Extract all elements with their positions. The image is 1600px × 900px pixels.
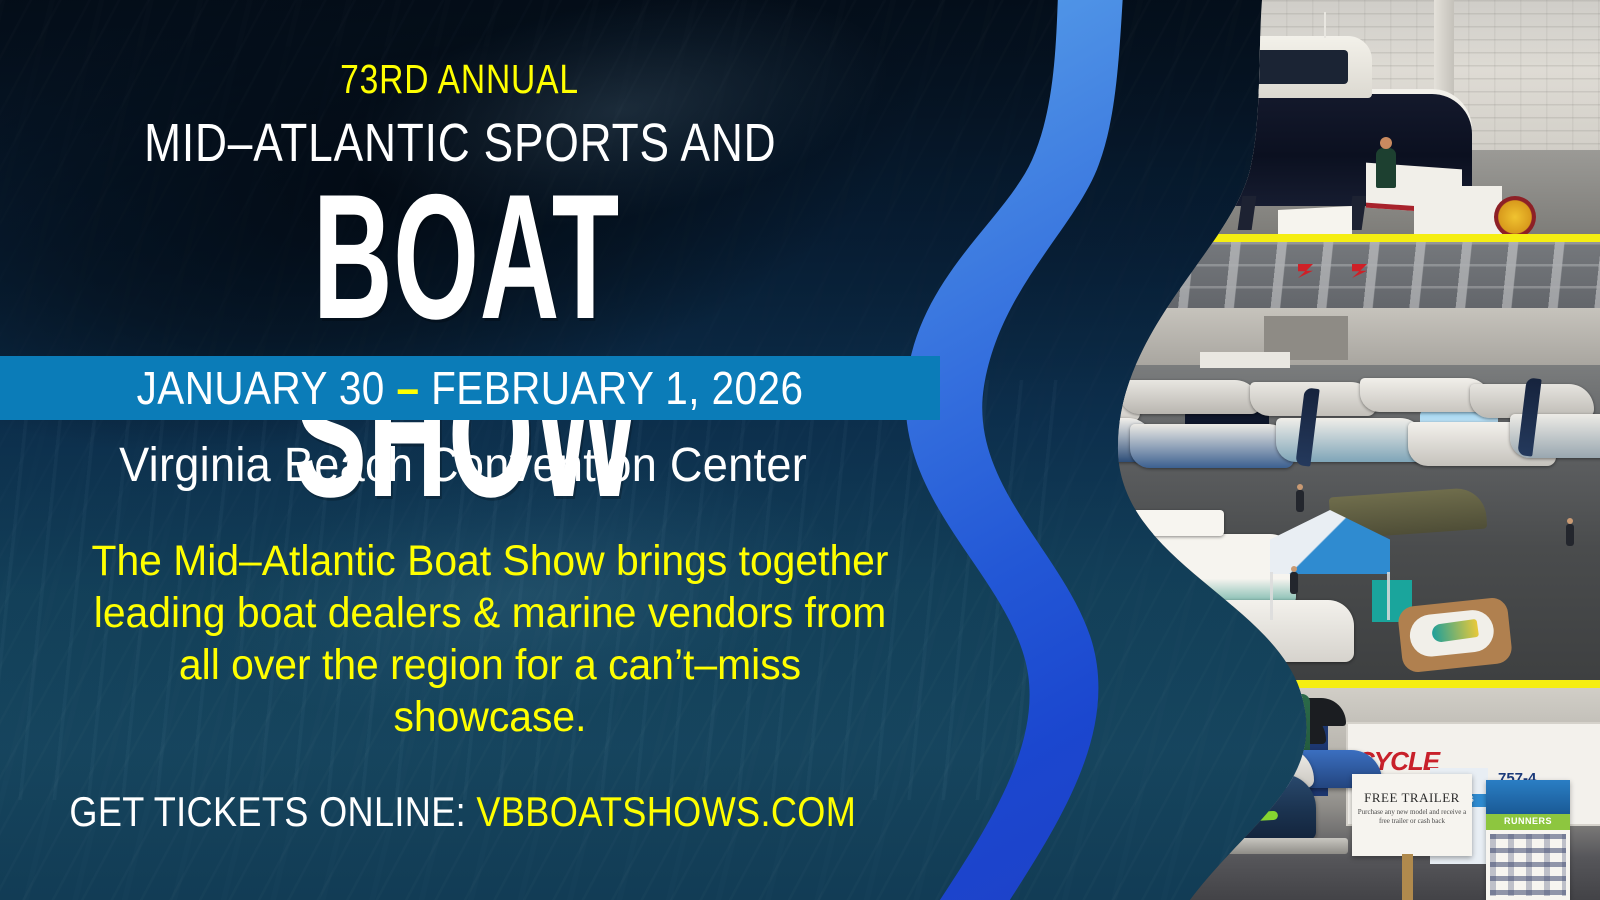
free-trailer-sign: FREE TRAILER Purchase any new model and … <box>1352 774 1472 856</box>
display-boat <box>1130 424 1294 468</box>
exhibitor-staff <box>1376 148 1396 188</box>
dealer-banner <box>1200 352 1290 368</box>
date-start: JANUARY 30 <box>137 362 385 414</box>
display-boat <box>1120 380 1260 414</box>
tickets-label: GET TICKETS ONLINE: <box>69 788 466 835</box>
date-banner-text: JANUARY 30 – FEBRUARY 1, 2026 <box>56 356 883 420</box>
attendee <box>1290 572 1298 594</box>
date-end: FEBRUARY 1, 2026 <box>431 362 803 414</box>
tickets-url[interactable]: VBBOATSHOWS.COM <box>476 788 856 835</box>
waverunners-model-grid <box>1490 834 1566 896</box>
attendee <box>1296 490 1304 512</box>
tent-legs <box>1270 572 1390 620</box>
exhibitor-sign <box>1278 206 1352 234</box>
antenna <box>1324 12 1326 38</box>
waverunners-header <box>1486 780 1570 814</box>
dealer-logo-badge <box>1494 196 1536 234</box>
free-trailer-headline: FREE TRAILER <box>1352 790 1472 806</box>
boat-show-poster: CYCLE 757-4 SERIES FREE TRAILER Purchase… <box>0 0 1600 900</box>
attendee <box>1566 524 1574 546</box>
eyebrow-text: 73RD ANNUAL <box>86 56 873 103</box>
poster-content: 73RD ANNUAL MID–ATLANTIC SPORTS AND BOAT… <box>0 0 960 900</box>
venue-text: Virginia Beach Convention Center <box>29 438 931 493</box>
date-separator: – <box>396 362 419 414</box>
free-trailer-subtext: Purchase any new model and receive a fre… <box>1352 808 1472 826</box>
description-text: The Mid–Atlantic Boat Show brings togeth… <box>82 535 899 743</box>
easel-leg <box>1402 854 1413 900</box>
tickets-cta: GET TICKETS ONLINE: VBBOATSHOWS.COM <box>67 788 893 836</box>
waverunners-poster: RUNNERS <box>1486 780 1570 900</box>
waverunners-label: RUNNERS <box>1486 816 1570 826</box>
display-counter <box>1414 186 1502 234</box>
